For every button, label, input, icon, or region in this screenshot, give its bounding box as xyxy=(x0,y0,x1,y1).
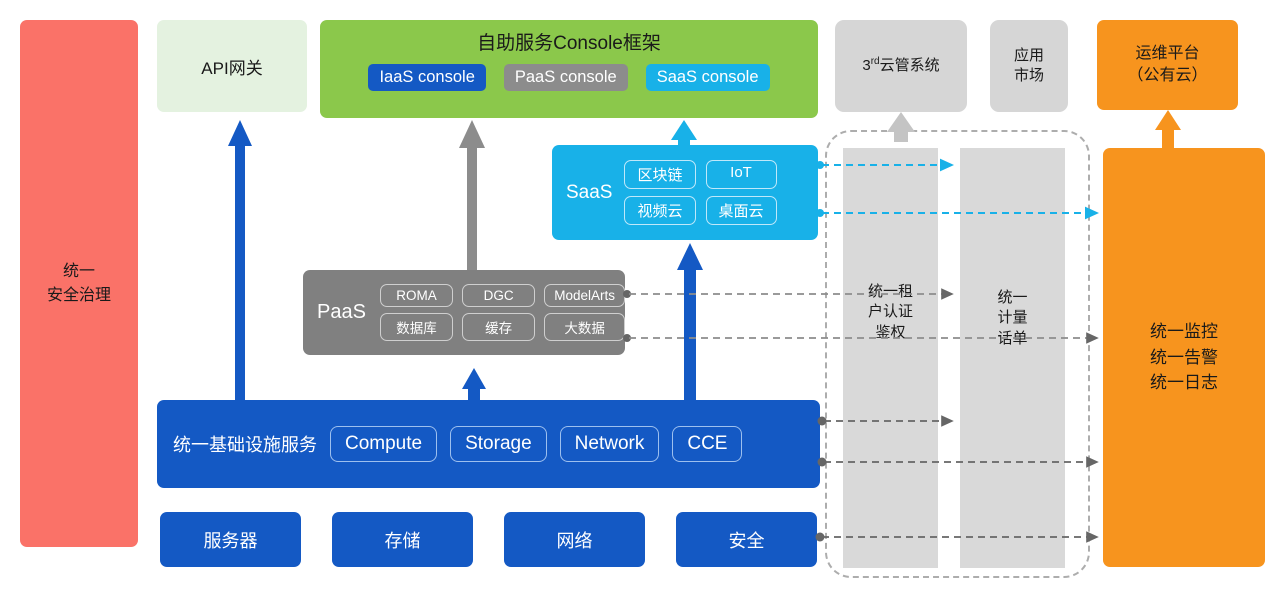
app-market-line2: 市场 xyxy=(1014,66,1044,86)
security-governance-line1: 统一 xyxy=(47,260,111,283)
ops-platform-line2: （公有云） xyxy=(1127,65,1207,87)
infrastructure-bar: 统一基础设施服务 Compute Storage Network CCE xyxy=(157,400,820,488)
resource-box-network[interactable]: 网络 xyxy=(504,512,645,567)
infra-item-network[interactable]: Network xyxy=(560,426,660,462)
infrastructure-label: 统一基础设施服务 xyxy=(173,431,317,457)
shared-service-column-metering: 统一 计量 话单 xyxy=(960,148,1065,568)
resource-box-server[interactable]: 服务器 xyxy=(160,512,301,567)
api-gateway-label: API网关 xyxy=(201,54,262,79)
shared-service-auth-label: 统一租 户认证 鉴权 xyxy=(843,282,938,343)
app-market-box: 应用 市场 xyxy=(990,20,1068,112)
resource-box-storage[interactable]: 存储 xyxy=(332,512,473,567)
paas-item-database[interactable]: 数据库 xyxy=(380,313,453,341)
arrow-infra-to-api-gateway xyxy=(228,120,252,400)
arrow-infra-to-saas xyxy=(677,243,703,400)
saas-item-desktop-cloud[interactable]: 桌面云 xyxy=(706,196,777,225)
app-market-line1: 应用 xyxy=(1014,46,1044,66)
paas-item-roma[interactable]: ROMA xyxy=(380,284,453,307)
paas-item-grid: ROMA DGC ModelArts 数据库 缓存 大数据 xyxy=(380,284,625,341)
paas-block: PaaS ROMA DGC ModelArts 数据库 缓存 大数据 xyxy=(303,270,625,355)
ops-monitoring-panel: 统一监控 统一告警 统一日志 xyxy=(1103,148,1265,567)
console-chip-row: IaaS console PaaS console SaaS console xyxy=(368,64,769,91)
ops-platform-line1: 运维平台 xyxy=(1127,43,1207,65)
ops-monitoring-line3: 统一日志 xyxy=(1150,370,1218,396)
infra-item-cce[interactable]: CCE xyxy=(672,426,742,462)
api-gateway-box: API网关 xyxy=(157,20,307,112)
paas-item-modelarts[interactable]: ModelArts xyxy=(544,284,625,307)
chip-saas-console[interactable]: SaaS console xyxy=(646,64,770,91)
arrow-infra-to-paas xyxy=(462,368,486,400)
saas-block: SaaS 区块链 IoT 视频云 桌面云 xyxy=(552,145,818,240)
paas-item-dgc[interactable]: DGC xyxy=(462,284,535,307)
saas-item-iot[interactable]: IoT xyxy=(706,160,777,189)
infra-item-compute[interactable]: Compute xyxy=(330,426,437,462)
shared-service-column-auth: 统一租 户认证 鉴权 xyxy=(843,148,938,568)
arrow-saas-to-console xyxy=(671,120,697,146)
saas-item-video-cloud[interactable]: 视频云 xyxy=(624,196,695,225)
console-framework-box: 自助服务Console框架 IaaS console PaaS console … xyxy=(320,20,818,118)
shared-service-metering-label: 统一 计量 话单 xyxy=(960,288,1065,349)
ops-monitoring-line1: 统一监控 xyxy=(1150,319,1218,345)
third-party-cloud-mgmt-label: 3rd云管系统 xyxy=(862,55,939,76)
chip-iaas-console[interactable]: IaaS console xyxy=(368,64,485,91)
security-governance-line2: 安全治理 xyxy=(47,284,111,307)
arrow-ops-main-to-platform xyxy=(1155,110,1181,148)
paas-label: PaaS xyxy=(317,301,366,324)
paas-item-bigdata[interactable]: 大数据 xyxy=(544,313,625,341)
saas-label: SaaS xyxy=(566,182,612,204)
arrow-paas-to-console xyxy=(459,120,485,270)
console-framework-title: 自助服务Console框架 xyxy=(477,28,661,55)
infra-item-storage[interactable]: Storage xyxy=(450,426,547,462)
saas-item-blockchain[interactable]: 区块链 xyxy=(624,160,695,189)
chip-paas-console[interactable]: PaaS console xyxy=(504,64,628,91)
ops-monitoring-line2: 统一告警 xyxy=(1150,345,1218,371)
ops-platform-box: 运维平台 （公有云） xyxy=(1097,20,1238,110)
paas-item-cache[interactable]: 缓存 xyxy=(462,313,535,341)
resource-box-security[interactable]: 安全 xyxy=(676,512,817,567)
security-governance-panel: 统一 安全治理 xyxy=(20,20,138,547)
saas-item-grid: 区块链 IoT 视频云 桌面云 xyxy=(624,160,776,225)
third-party-cloud-mgmt-box: 3rd云管系统 xyxy=(835,20,967,112)
architecture-diagram: 统一 安全治理 API网关 自助服务Console框架 IaaS console… xyxy=(0,0,1265,605)
